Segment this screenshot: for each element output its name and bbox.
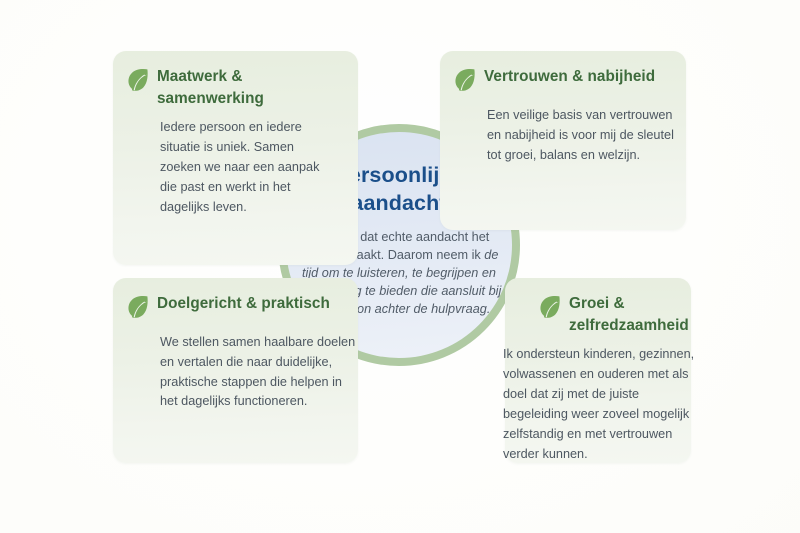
card-body: Ik ondersteun kinderen, gezinnen, volwas…: [503, 345, 706, 464]
card-header: Doelgericht & praktisch: [127, 293, 341, 324]
card-body: Een veilige basis van vertrouwen en nabi…: [487, 106, 683, 165]
card-header: Vertrouwen & nabijheid: [454, 66, 669, 97]
leaf-icon: [127, 68, 149, 97]
card-body: We stellen samen haalbare doelen en vert…: [160, 333, 360, 412]
card-vertrouwen-nabijheid[interactable]: Vertrouwen & nabijheid Een veilige basis…: [440, 51, 686, 230]
card-title: Groei & zelfredzaamheid: [569, 293, 689, 336]
card-body: Iedere persoon en iedere situatie is uni…: [160, 118, 335, 217]
card-maatwerk-samenwerking[interactable]: Maatwerk & samenwerking Iedere persoon e…: [113, 51, 358, 265]
leaf-icon: [539, 295, 561, 324]
card-header: Maatwerk & samenwerking: [127, 66, 341, 109]
card-title: Maatwerk & samenwerking: [157, 66, 341, 109]
leaf-icon: [454, 68, 476, 97]
card-doelgericht-praktisch[interactable]: Doelgericht & praktisch We stellen samen…: [113, 278, 358, 463]
card-groei-zelfredzaamheid[interactable]: Groei & zelfredzaamheid Ik ondersteun ki…: [505, 278, 691, 463]
card-title: Vertrouwen & nabijheid: [484, 66, 655, 88]
leaf-icon: [127, 295, 149, 324]
card-title: Doelgericht & praktisch: [157, 293, 330, 315]
infographic-canvas: Persoonlijke aandacht Ik geloof dat echt…: [0, 0, 800, 533]
card-header: Groei & zelfredzaamheid: [519, 293, 685, 336]
